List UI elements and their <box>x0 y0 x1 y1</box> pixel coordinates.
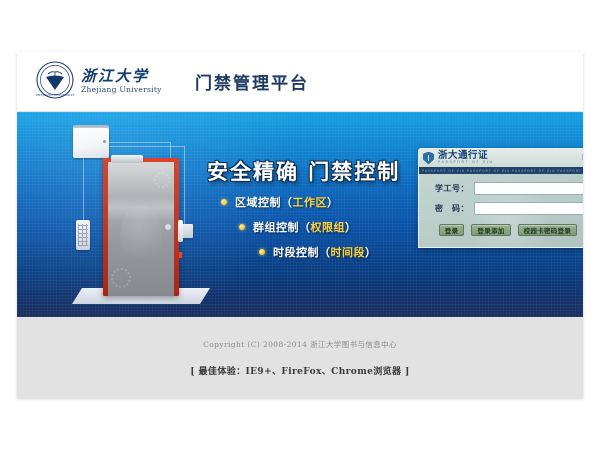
feature-label: 群组控制（ <box>253 219 311 235</box>
gear-icon <box>111 268 131 288</box>
feature-label: 区域控制（ <box>235 194 293 210</box>
password-label: 密 码： <box>427 203 469 214</box>
login-add-button[interactable]: 登录添加 <box>471 224 510 236</box>
feature-tail: ） <box>345 219 357 235</box>
wire <box>184 146 185 224</box>
site-header: ZHEJIANG UNIVERSITY 浙江大学 Zhejiang Univer… <box>17 52 583 112</box>
bullet-dot-icon <box>239 224 245 230</box>
shield-icon <box>582 152 583 165</box>
wire <box>83 158 84 220</box>
controller-box-icon <box>73 128 109 158</box>
zju-seal-icon: ZHEJIANG UNIVERSITY <box>35 60 75 100</box>
gear-icon <box>154 172 170 188</box>
feature-item-time-control: 时段控制（ 时间段 ） <box>215 244 415 260</box>
login-form: 学工号： 密 码： 登录 登录添加 校园卡密码登录 <box>419 174 583 236</box>
bullet-dot-icon <box>221 199 227 205</box>
university-logo[interactable]: ZHEJIANG UNIVERSITY 浙江大学 Zhejiang Univer… <box>35 60 162 100</box>
form-row-password: 密 码： <box>427 202 583 215</box>
form-row-id: 学工号： <box>427 182 583 195</box>
university-name-en: Zhejiang University <box>81 85 162 95</box>
copyright-text: Copyright (C) 2008-2014 浙江大学图书与信息中心 <box>203 339 397 350</box>
login-panel-title: 浙大通行证 <box>438 151 494 161</box>
feature-list: 区域控制（ 工作区 ） 群组控制（ 权限组 ） 时段控制（ 时间段 ） <box>215 194 415 269</box>
door-access-control-illustration <box>53 120 213 310</box>
page-container: ZHEJIANG UNIVERSITY 浙江大学 Zhejiang Univer… <box>17 52 583 398</box>
feature-label: 时段控制（ <box>273 244 331 260</box>
door-knob-icon <box>165 224 171 230</box>
door-highlight <box>120 205 162 267</box>
banner-slogan: 安全精确 门禁控制 <box>207 156 400 186</box>
svg-text:ZHEJIANG UNIVERSITY: ZHEJIANG UNIVERSITY <box>36 93 75 97</box>
shield-icon <box>423 152 434 165</box>
brand-text: 浙江大学 Zhejiang University <box>81 65 162 95</box>
site-footer: Copyright (C) 2008-2014 浙江大学图书与信息中心 [ 最佳… <box>17 317 583 398</box>
feature-highlight: 工作区 <box>293 194 328 210</box>
page-title: 门禁管理平台 <box>195 69 309 94</box>
feature-highlight: 权限组 <box>311 219 346 235</box>
login-title-group: 浙大通行证 PASSPORT OF ZJU <box>438 151 494 165</box>
feature-item-area-control: 区域控制（ 工作区 ） <box>215 194 415 210</box>
door-panel <box>108 162 174 296</box>
feature-tail: ） <box>365 244 377 260</box>
door-frame <box>103 158 179 296</box>
wire <box>109 142 171 143</box>
login-button-row: 登录 登录添加 校园卡密码登录 <box>427 222 583 236</box>
login-panel-header: 浙大通行证 PASSPORT OF ZJU <box>419 149 583 167</box>
feature-highlight: 时间段 <box>331 244 366 260</box>
wire <box>109 146 185 147</box>
feature-tail: ） <box>327 194 339 210</box>
door-closer-icon <box>111 155 143 163</box>
password-input[interactable] <box>474 202 583 215</box>
login-marquee-strip: PASSPORT OF ZJU PASSPORT OF ZJU PASSPORT… <box>419 167 583 174</box>
login-button[interactable]: 登录 <box>439 224 465 236</box>
browser-compat-note: [ 最佳体验：IE9+、FireFox、Chrome浏览器 ] <box>190 364 409 377</box>
status-led <box>179 252 182 258</box>
hero-banner: 安全精确 门禁控制 区域控制（ 工作区 ） 群组控制（ 权限组 ） 时段控制（ … <box>17 112 583 317</box>
login-panel: 浙大通行证 PASSPORT OF ZJU PASSPORT OF ZJU PA… <box>418 148 583 248</box>
student-staff-id-label: 学工号： <box>427 183 469 194</box>
feature-item-group-control: 群组控制（ 权限组 ） <box>215 219 415 235</box>
keypad-keys <box>78 224 88 246</box>
keypad-reader-icon <box>76 220 90 250</box>
bullet-dot-icon <box>259 249 265 255</box>
door-handle-icon <box>178 220 183 242</box>
login-panel-subtitle: PASSPORT OF ZJU <box>438 161 494 165</box>
university-name-cn: 浙江大学 <box>81 68 162 85</box>
campus-card-login-button[interactable]: 校园卡密码登录 <box>518 224 578 236</box>
student-staff-id-input[interactable] <box>474 182 583 195</box>
